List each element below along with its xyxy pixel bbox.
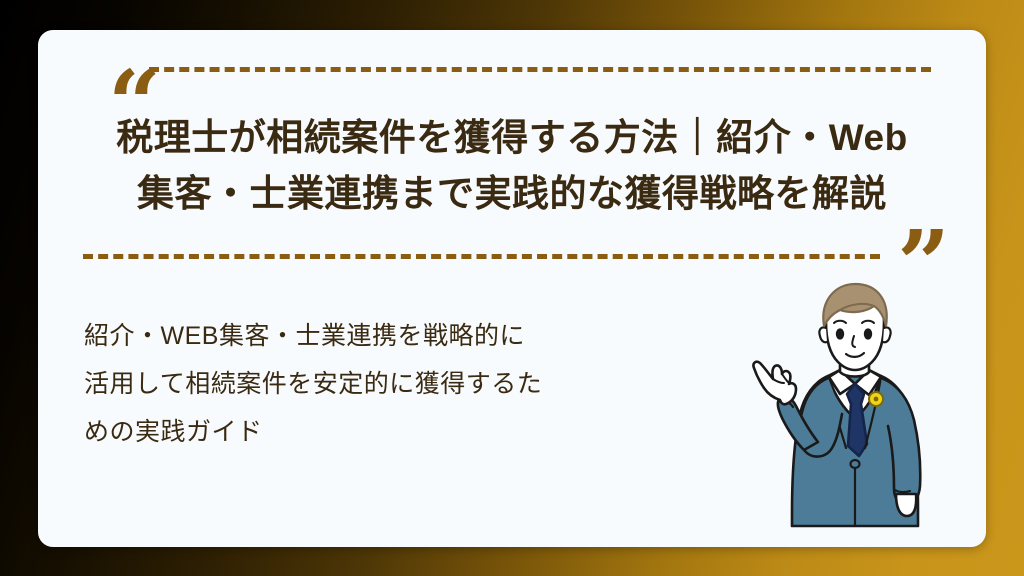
eye-right bbox=[864, 328, 872, 339]
businessman-svg bbox=[728, 278, 986, 547]
lapel-badge-center bbox=[874, 397, 879, 402]
eye-left bbox=[836, 328, 844, 339]
right-hand bbox=[896, 494, 916, 516]
businessman-pointing-up-illustration bbox=[728, 278, 986, 547]
ear-right bbox=[883, 327, 891, 342]
slide-canvas: “ 税理士が相続案件を獲得する方法｜紹介・Web 集客・士業連携まで実践的な獲得… bbox=[0, 0, 1024, 576]
lead-paragraph-line-2: 活用して相続案件を安定的に獲得するた bbox=[84, 360, 684, 408]
page-title-line-2: 集客・士業連携まで実践的な獲得戦略を解説 bbox=[58, 166, 966, 222]
content-card: “ 税理士が相続案件を獲得する方法｜紹介・Web 集客・士業連携まで実践的な獲得… bbox=[38, 30, 986, 547]
page-title-line-1: 税理士が相続案件を獲得する方法｜紹介・Web bbox=[58, 110, 966, 166]
divider-top bbox=[149, 67, 931, 72]
lead-paragraph: 紹介・WEB集客・士業連携を戦略的に 活用して相続案件を安定的に獲得するた めの… bbox=[84, 312, 684, 456]
page-title: 税理士が相続案件を獲得する方法｜紹介・Web 集客・士業連携まで実践的な獲得戦略… bbox=[38, 110, 986, 222]
lead-paragraph-line-3: めの実践ガイド bbox=[84, 408, 684, 456]
lead-paragraph-line-1: 紹介・WEB集客・士業連携を戦略的に bbox=[84, 312, 684, 360]
necktie bbox=[847, 384, 867, 456]
pointing-hand bbox=[753, 362, 796, 404]
ear-left bbox=[819, 327, 827, 342]
divider-bottom bbox=[83, 254, 880, 259]
jacket-button bbox=[851, 460, 860, 468]
